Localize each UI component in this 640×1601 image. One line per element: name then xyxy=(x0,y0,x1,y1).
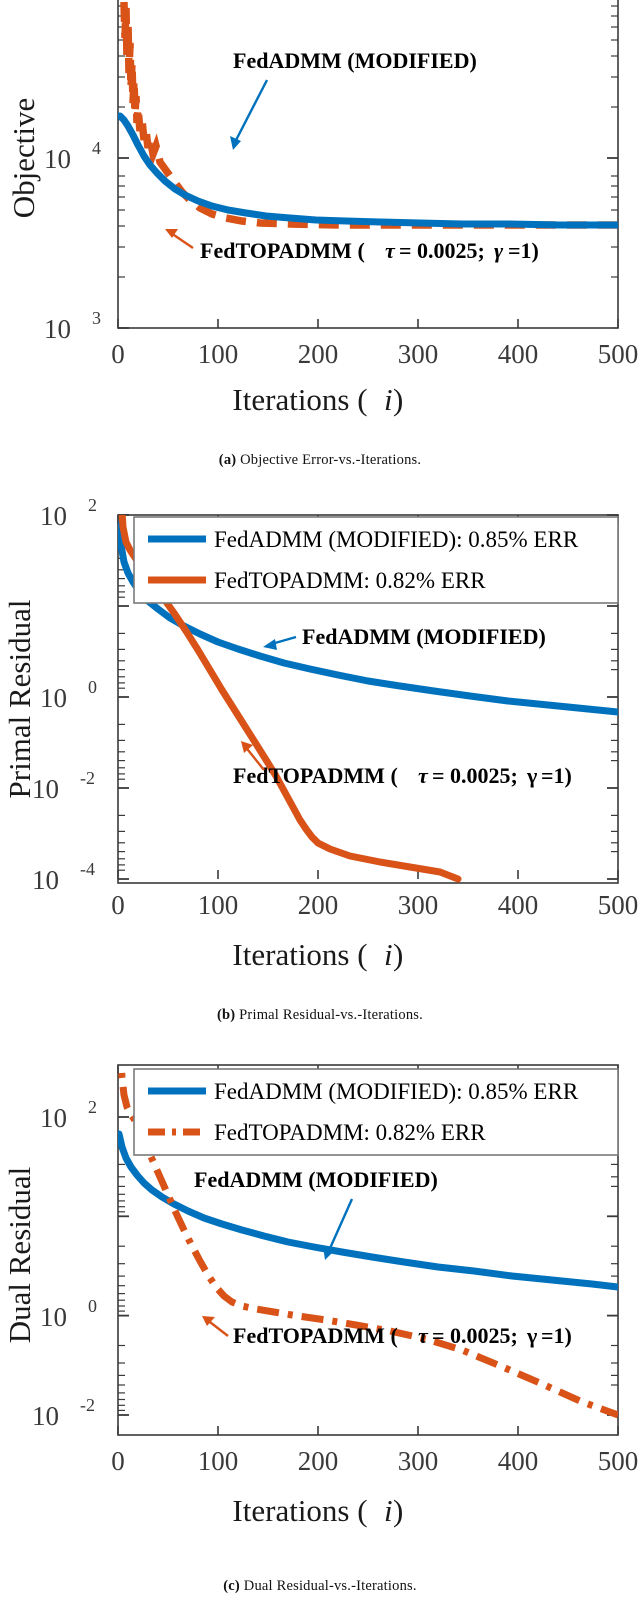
caption-c-text: Dual Residual-vs.-Iterations. xyxy=(244,1578,417,1594)
svg-text:300: 300 xyxy=(398,890,439,920)
svg-text:400: 400 xyxy=(498,890,539,920)
svg-text:200: 200 xyxy=(298,890,339,920)
y-tick-labels-c: 10 2 10 0 10 -2 xyxy=(32,1097,97,1431)
svg-text:): ) xyxy=(393,382,403,417)
caption-b-text: Primal Residual-vs.-Iterations. xyxy=(239,1007,423,1023)
svg-text:0: 0 xyxy=(88,1296,97,1316)
svg-text:= 0.0025;: = 0.0025; xyxy=(432,1323,518,1348)
svg-text:100: 100 xyxy=(198,1446,239,1476)
svg-text:=1): =1) xyxy=(541,1323,572,1348)
svg-text:Iterations (: Iterations ( xyxy=(232,937,367,972)
legend-label-c-1: FedTOPADMM: 0.82% ERR xyxy=(214,1120,486,1145)
legend-label-c-0: FedADMM (MODIFIED): 0.85% ERR xyxy=(214,1079,579,1104)
caption-a-label: (a) xyxy=(219,452,237,468)
x-tick-labels-c: 0 100 200 300 400 500 xyxy=(111,1446,638,1476)
svg-text:-2: -2 xyxy=(80,1395,95,1415)
svg-text:10: 10 xyxy=(40,1103,67,1133)
svg-text:γ: γ xyxy=(526,763,537,788)
svg-text:i: i xyxy=(384,1493,393,1528)
svg-text:4: 4 xyxy=(92,138,101,158)
svg-text:10: 10 xyxy=(40,501,67,531)
annotation-label-fedtopadmm-b: FedTOPADMM ( xyxy=(233,763,398,788)
svg-text:0: 0 xyxy=(111,339,125,369)
svg-text:100: 100 xyxy=(198,339,239,369)
subplot-b-primal-residual: 10 2 10 0 10 -4 0 100 200 300 400 500 10… xyxy=(0,487,640,1027)
svg-text:): ) xyxy=(393,1493,403,1528)
caption-c-label: (c) xyxy=(223,1578,240,1594)
chart-b-svg: 10 2 10 0 10 -4 0 100 200 300 400 500 10… xyxy=(0,487,640,1027)
svg-text:500: 500 xyxy=(598,890,639,920)
y-tick-labels-b: 10 2 10 0 10 -4 xyxy=(32,495,97,895)
svg-text:10: 10 xyxy=(40,683,67,713)
svg-text:i: i xyxy=(384,382,393,417)
svg-text:=1): =1) xyxy=(541,763,572,788)
svg-text:0: 0 xyxy=(111,1446,125,1476)
svg-text:0: 0 xyxy=(111,890,125,920)
x-tick-labels-a: 0 100 200 300 400 500 xyxy=(111,339,638,369)
y-axis-title-c: Dual Residual xyxy=(2,1167,37,1344)
caption-a: (a) Objective Error-vs.-Iterations. xyxy=(0,452,640,469)
svg-text:400: 400 xyxy=(498,1446,539,1476)
svg-text:500: 500 xyxy=(598,339,639,369)
legend-b[interactable]: FedADMM (MODIFIED): 0.85% ERR FedTOPADMM… xyxy=(134,517,618,603)
x-axis-title-b: Iterations ( i ) xyxy=(232,937,403,972)
x-tick-labels-b: 0 100 200 300 400 500 xyxy=(111,890,638,920)
svg-text:200: 200 xyxy=(298,1446,339,1476)
svg-text:Iterations (: Iterations ( xyxy=(232,382,367,417)
svg-text:400: 400 xyxy=(498,339,539,369)
svg-text:= 0.0025;: = 0.0025; xyxy=(432,763,518,788)
svg-text:γ: γ xyxy=(494,238,504,263)
svg-text:10: 10 xyxy=(44,314,71,344)
svg-text:0: 0 xyxy=(88,677,97,697)
svg-text:2: 2 xyxy=(88,495,97,515)
caption-c: (c) Dual Residual-vs.-Iterations. xyxy=(0,1578,640,1595)
svg-text:τ: τ xyxy=(418,1323,429,1348)
caption-b-label: (b) xyxy=(217,1007,235,1023)
svg-text:-4: -4 xyxy=(80,859,95,879)
svg-text:Iterations (: Iterations ( xyxy=(232,1493,367,1528)
annotation-label-fedtopadmm-a: FedTOPADMM ( xyxy=(200,238,365,263)
caption-b: (b) Primal Residual-vs.-Iterations. xyxy=(0,1007,640,1024)
svg-text:γ: γ xyxy=(526,1323,537,1348)
svg-text:10: 10 xyxy=(32,865,59,895)
subplot-c-dual-residual: 10 2 10 0 10 -2 0 100 200 300 400 500 Du… xyxy=(0,1047,640,1601)
annotation-label-fedadmm-c: FedADMM (MODIFIED) xyxy=(194,1167,438,1192)
svg-text:=1): =1) xyxy=(508,238,539,263)
svg-text:300: 300 xyxy=(398,339,439,369)
svg-text:300: 300 xyxy=(398,1446,439,1476)
annotation-fedadmm-b: FedADMM (MODIFIED) xyxy=(263,624,546,650)
svg-text:10: 10 xyxy=(44,144,71,174)
legend-label-b-0: FedADMM (MODIFIED): 0.85% ERR xyxy=(214,527,579,552)
svg-text:τ: τ xyxy=(418,763,429,788)
annotation-label-fedadmm-b: FedADMM (MODIFIED) xyxy=(302,624,546,649)
svg-text:= 0.0025;: = 0.0025; xyxy=(399,238,485,263)
svg-text:3: 3 xyxy=(92,308,101,328)
y-tick-labels-a: 10 4 10 3 xyxy=(44,138,101,344)
annotation-label-fedtopadmm-c: FedTOPADMM ( xyxy=(233,1323,398,1348)
svg-text:i: i xyxy=(384,937,393,972)
svg-text:10: 10 xyxy=(32,1401,59,1431)
chart-a-svg: 10 4 10 3 0 100 200 300 400 500 Objectiv… xyxy=(0,0,640,488)
svg-text:τ: τ xyxy=(385,238,396,263)
chart-c-svg: 10 2 10 0 10 -2 0 100 200 300 400 500 Du… xyxy=(0,1047,640,1601)
svg-text:200: 200 xyxy=(298,339,339,369)
svg-text:2: 2 xyxy=(88,1097,97,1117)
y-axis-title-a: Objective xyxy=(6,98,41,219)
x-axis-title-a: Iterations ( i ) xyxy=(232,382,403,417)
svg-text:100: 100 xyxy=(198,890,239,920)
svg-text:): ) xyxy=(393,937,403,972)
caption-a-text: Objective Error-vs.-Iterations. xyxy=(240,452,421,468)
x-axis-title-c: Iterations ( i ) xyxy=(232,1493,403,1528)
legend-c[interactable]: FedADMM (MODIFIED): 0.85% ERR FedTOPADMM… xyxy=(134,1069,618,1155)
y-tick-label-b-minus2: 10 -2 xyxy=(32,768,95,804)
subplot-a-objective: 10 4 10 3 0 100 200 300 400 500 Objectiv… xyxy=(0,0,640,488)
svg-text:-2: -2 xyxy=(80,768,95,788)
legend-label-b-1: FedTOPADMM: 0.82% ERR xyxy=(214,568,486,593)
figure-convergence-plots: 10 4 10 3 0 100 200 300 400 500 Objectiv… xyxy=(0,0,640,1601)
y-axis-title-b: Primal Residual xyxy=(2,600,37,799)
annotation-label-fedadmm-a: FedADMM (MODIFIED) xyxy=(233,48,477,73)
svg-text:500: 500 xyxy=(598,1446,639,1476)
svg-text:10: 10 xyxy=(40,1302,67,1332)
